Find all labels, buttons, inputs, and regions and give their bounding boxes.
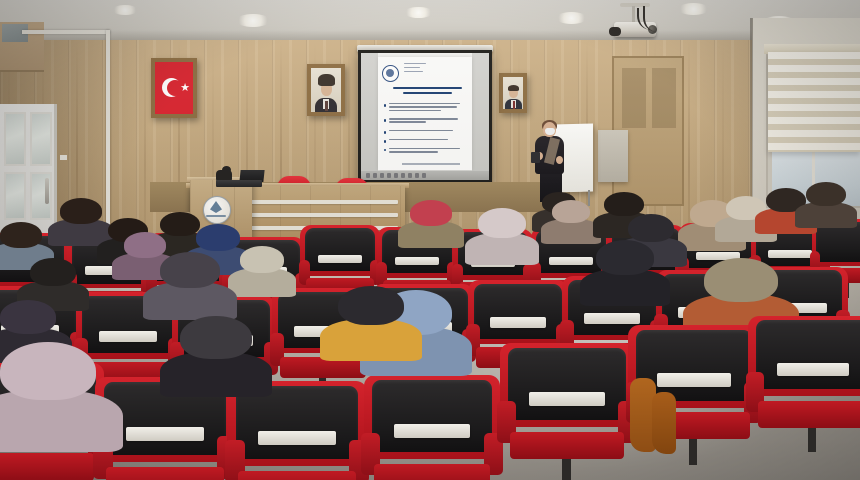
- taskbar-icon[interactable]: [366, 173, 370, 178]
- chair-backrest: [508, 348, 626, 420]
- chair-r3-3[interactable]: [236, 386, 358, 480]
- chair-seat: [0, 453, 94, 480]
- attendee-1: [60, 198, 102, 242]
- light-switch[interactable]: [60, 155, 67, 160]
- slide-logo-inner: [386, 69, 394, 77]
- chair-r3-7[interactable]: [756, 320, 860, 432]
- chair-writing-tablet[interactable]: [490, 317, 546, 328]
- portrait2-hair: [508, 85, 519, 91]
- desktop-taskbar: [361, 171, 489, 180]
- projector-knob: [609, 27, 621, 36]
- attendee-head: [160, 252, 220, 288]
- chair-writing-tablet[interactable]: [395, 257, 440, 265]
- attendee-12: [180, 316, 252, 390]
- chair-seat: [510, 432, 623, 460]
- conduit-vertical: [106, 30, 110, 245]
- taskbar-icon[interactable]: [380, 173, 384, 178]
- attendee-head: [806, 182, 846, 206]
- left-door-handle[interactable]: [45, 178, 49, 204]
- turkish-flag-frame: ★: [151, 58, 197, 118]
- slide-title-text: [384, 87, 472, 97]
- flag-star-icon: ★: [180, 83, 190, 93]
- portrait2-tie: [513, 101, 515, 109]
- slide-bullet-item: [384, 130, 474, 134]
- chair-r3-5[interactable]: [508, 348, 626, 464]
- chair-backrest: [372, 380, 492, 452]
- slide-bullet-dot-icon: [384, 131, 386, 133]
- portrait-official-frame: [499, 73, 527, 113]
- chair-leg: [689, 439, 697, 464]
- attendee-head: [0, 300, 56, 334]
- left-door-glass-upper: [4, 112, 26, 166]
- slide-text-line: [389, 110, 442, 112]
- attendee-head: [478, 208, 526, 238]
- slide-text-line: [389, 151, 438, 153]
- chair-r3-4[interactable]: [372, 380, 492, 480]
- slide-header-line: [404, 63, 426, 65]
- attendee-11: [0, 342, 96, 442]
- chair-writing-tablet[interactable]: [584, 313, 640, 324]
- attendee-23: [806, 182, 846, 224]
- attendee-head: [196, 224, 240, 251]
- slide-bullet-text: [389, 148, 474, 155]
- slide-bullet-item: [384, 139, 474, 143]
- slide-bullet-text: [389, 118, 474, 125]
- taskbar-icon[interactable]: [394, 173, 398, 178]
- attendee-head: [30, 258, 76, 286]
- attendee-8: [30, 258, 76, 306]
- av-equipment-knob: [222, 166, 231, 174]
- attendee-head: [240, 246, 284, 273]
- attendee-head: [60, 198, 102, 224]
- chair-writing-tablet[interactable]: [549, 257, 594, 265]
- slide-text-line: [389, 148, 460, 150]
- slide-bullet-text: [389, 139, 474, 143]
- slide-logo-icon: [382, 65, 399, 82]
- taskbar-icon[interactable]: [373, 173, 377, 178]
- attendee-head: [628, 214, 674, 242]
- attendee-17: [552, 200, 590, 240]
- taskbar-icon[interactable]: [415, 173, 419, 178]
- attendee-head: [596, 240, 654, 275]
- presenter-handout: [531, 152, 540, 163]
- taskbar-icon[interactable]: [408, 173, 412, 178]
- chair-writing-tablet[interactable]: [126, 427, 204, 441]
- chair-backrest: [305, 228, 375, 271]
- chair-backrest: [474, 284, 562, 339]
- chair-seat: [374, 464, 489, 480]
- slide-header-text: [404, 63, 460, 75]
- attendee-boot-right: [652, 392, 676, 454]
- portrait-ataturk-image: [311, 68, 341, 112]
- left-door-glass-upper-2: [30, 112, 52, 166]
- chair-leg: [808, 428, 816, 453]
- attendee-head: [0, 342, 96, 400]
- slide-bullet-dot-icon: [384, 104, 386, 106]
- presenter-hand-right: [556, 156, 563, 164]
- chair-writing-tablet[interactable]: [529, 392, 605, 406]
- attendee-head: [410, 200, 452, 226]
- ceiling-light-4: [678, 3, 709, 15]
- back-door-panel-2: [652, 68, 676, 128]
- chair-writing-tablet[interactable]: [258, 431, 336, 445]
- projection-screen-border: [358, 50, 492, 183]
- slide-title-line: [393, 87, 462, 89]
- attendee-15: [478, 208, 526, 260]
- slide-letterbox-right: [472, 53, 489, 180]
- attendee-25: [338, 286, 404, 354]
- attendee-head: [160, 212, 200, 236]
- slide-bullet-item: [384, 118, 474, 125]
- slide-bullet-dot-icon: [384, 119, 386, 121]
- taskbar-icon[interactable]: [401, 173, 405, 178]
- chair-writing-tablet[interactable]: [394, 424, 471, 438]
- slide-title-line: [403, 92, 452, 94]
- slide-header-line: [404, 71, 423, 73]
- ceiling-light-1: [236, 14, 270, 27]
- attendee-head: [604, 192, 644, 216]
- chair-seat: [106, 467, 223, 480]
- slide-text-line: [389, 106, 457, 108]
- slide-text-line: [389, 103, 460, 105]
- attendee-7: [240, 246, 284, 292]
- attendee-head: [552, 200, 590, 223]
- projection-screen-surface: [361, 53, 489, 180]
- slide-bullet-dot-icon: [384, 140, 386, 142]
- ceiling-light-3: [556, 12, 587, 24]
- slide-bullet-text: [389, 103, 474, 113]
- attendee-head: [0, 222, 42, 248]
- portrait-official-image: [503, 77, 523, 109]
- chair-writing-tablet[interactable]: [777, 363, 850, 376]
- chair-writing-tablet[interactable]: [99, 331, 158, 342]
- attendee-14: [410, 200, 452, 244]
- slide-footer-text: [402, 163, 460, 164]
- chair-writing-tablet[interactable]: [657, 373, 731, 387]
- turkish-flag-icon: ★: [155, 62, 193, 114]
- slide-text-line: [389, 118, 459, 120]
- slide-bullet-item: [384, 103, 474, 113]
- slide-bullet-text: [389, 130, 474, 134]
- laptop-base[interactable]: [216, 180, 262, 187]
- attendee-shoulders: [795, 202, 857, 228]
- slide-bullet-item: [384, 148, 474, 155]
- chair-writing-tablet[interactable]: [768, 250, 812, 258]
- attendee-9: [160, 252, 220, 314]
- left-door-glass-lower: [4, 172, 26, 220]
- back-door-panel-1: [622, 68, 646, 128]
- window-blind[interactable]: [768, 52, 860, 152]
- taskbar-icon[interactable]: [387, 173, 391, 178]
- chair-backrest: [756, 320, 860, 389]
- attendee-head: [180, 316, 252, 359]
- podium-emblem-bar: [206, 215, 226, 217]
- chair-writing-tablet[interactable]: [318, 255, 363, 263]
- slide-bullet-list: [384, 103, 474, 160]
- slide-bullet-dot-icon: [384, 149, 386, 151]
- chair-leg: [562, 459, 570, 480]
- seminar-room-photo: ★: [0, 0, 860, 480]
- slide-text-line: [389, 130, 454, 132]
- chair-seat: [238, 471, 355, 480]
- portrait-ataturk-frame: [307, 64, 345, 116]
- attendee-19: [596, 240, 654, 300]
- slide-letterbox-left: [361, 53, 378, 180]
- chair-seat: [758, 401, 860, 428]
- projector-cable-2: [643, 6, 667, 32]
- wall-noticeboard: [598, 130, 628, 182]
- ceiling-light-2: [404, 7, 433, 18]
- attendee-head: [704, 258, 778, 302]
- slide-text-line: [389, 121, 426, 123]
- taskbar-icon[interactable]: [422, 173, 426, 178]
- attendee-head: [338, 286, 404, 325]
- conduit-horizontal: [22, 30, 110, 34]
- portrait1-tie: [325, 101, 328, 111]
- slide-header-line: [404, 67, 421, 69]
- presentation-slide: [378, 57, 473, 170]
- portrait1-kalpak-hat: [318, 74, 335, 86]
- ceiling-light-6: [112, 5, 138, 15]
- slide-text-line: [389, 139, 449, 141]
